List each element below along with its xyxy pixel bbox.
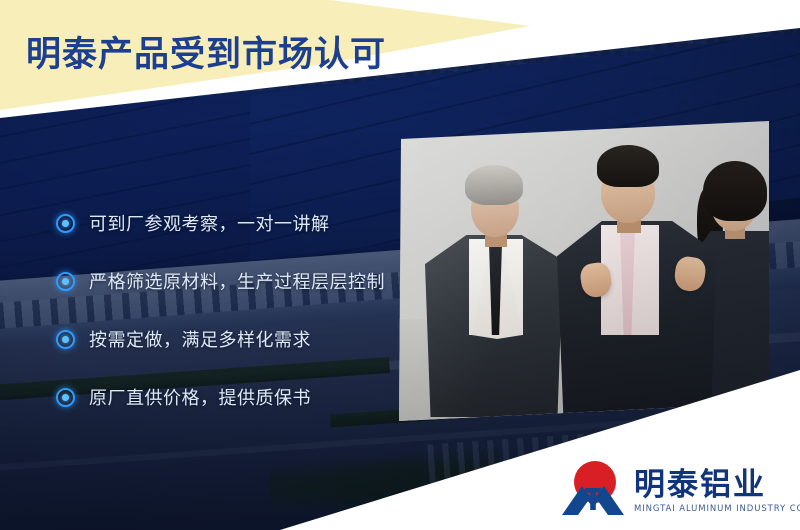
list-item-label: 严格筛选原材料，生产过程层层控制	[89, 268, 385, 294]
logo-text-block: 明泰铝业 MINGTAI ALUMINUM INDUSTRY CO., LTD	[634, 469, 800, 516]
page-title: 明泰产品受到市场认可	[26, 26, 386, 77]
list-item: 按需定做，满足多样化需求	[56, 324, 396, 354]
list-item-label: 可到厂参观考察，一对一讲解	[89, 210, 330, 236]
business-meeting-photo	[399, 121, 769, 421]
list-item: 可到厂参观考察，一对一讲解	[56, 208, 396, 238]
mingtai-logo-mark-icon	[560, 460, 626, 516]
feature-list: 可到厂参观考察，一对一讲解 严格筛选原材料，生产过程层层控制 按需定做，满足多样…	[56, 208, 396, 440]
list-item: 严格筛选原材料，生产过程层层控制	[56, 266, 396, 296]
list-item: 原厂直供价格，提供质保书	[56, 382, 396, 412]
list-item-label: 原厂直供价格，提供质保书	[89, 384, 311, 410]
list-item-label: 按需定做，满足多样化需求	[89, 326, 311, 352]
target-circle-icon	[56, 214, 75, 233]
photo-lighting-overlay	[399, 121, 769, 421]
company-logo: 明泰铝业 MINGTAI ALUMINUM INDUSTRY CO., LTD	[560, 460, 800, 516]
target-circle-icon	[56, 272, 75, 291]
company-name-cn: 明泰铝业	[634, 469, 800, 502]
company-name-en: MINGTAI ALUMINUM INDUSTRY CO., LTD	[634, 504, 800, 514]
target-circle-icon	[56, 330, 75, 349]
promo-banner: 明泰产品受到市场认可 可到厂参观考察，一对一讲解 严格筛选原材料，生产过程层层控…	[0, 0, 800, 530]
target-circle-icon	[56, 388, 75, 407]
